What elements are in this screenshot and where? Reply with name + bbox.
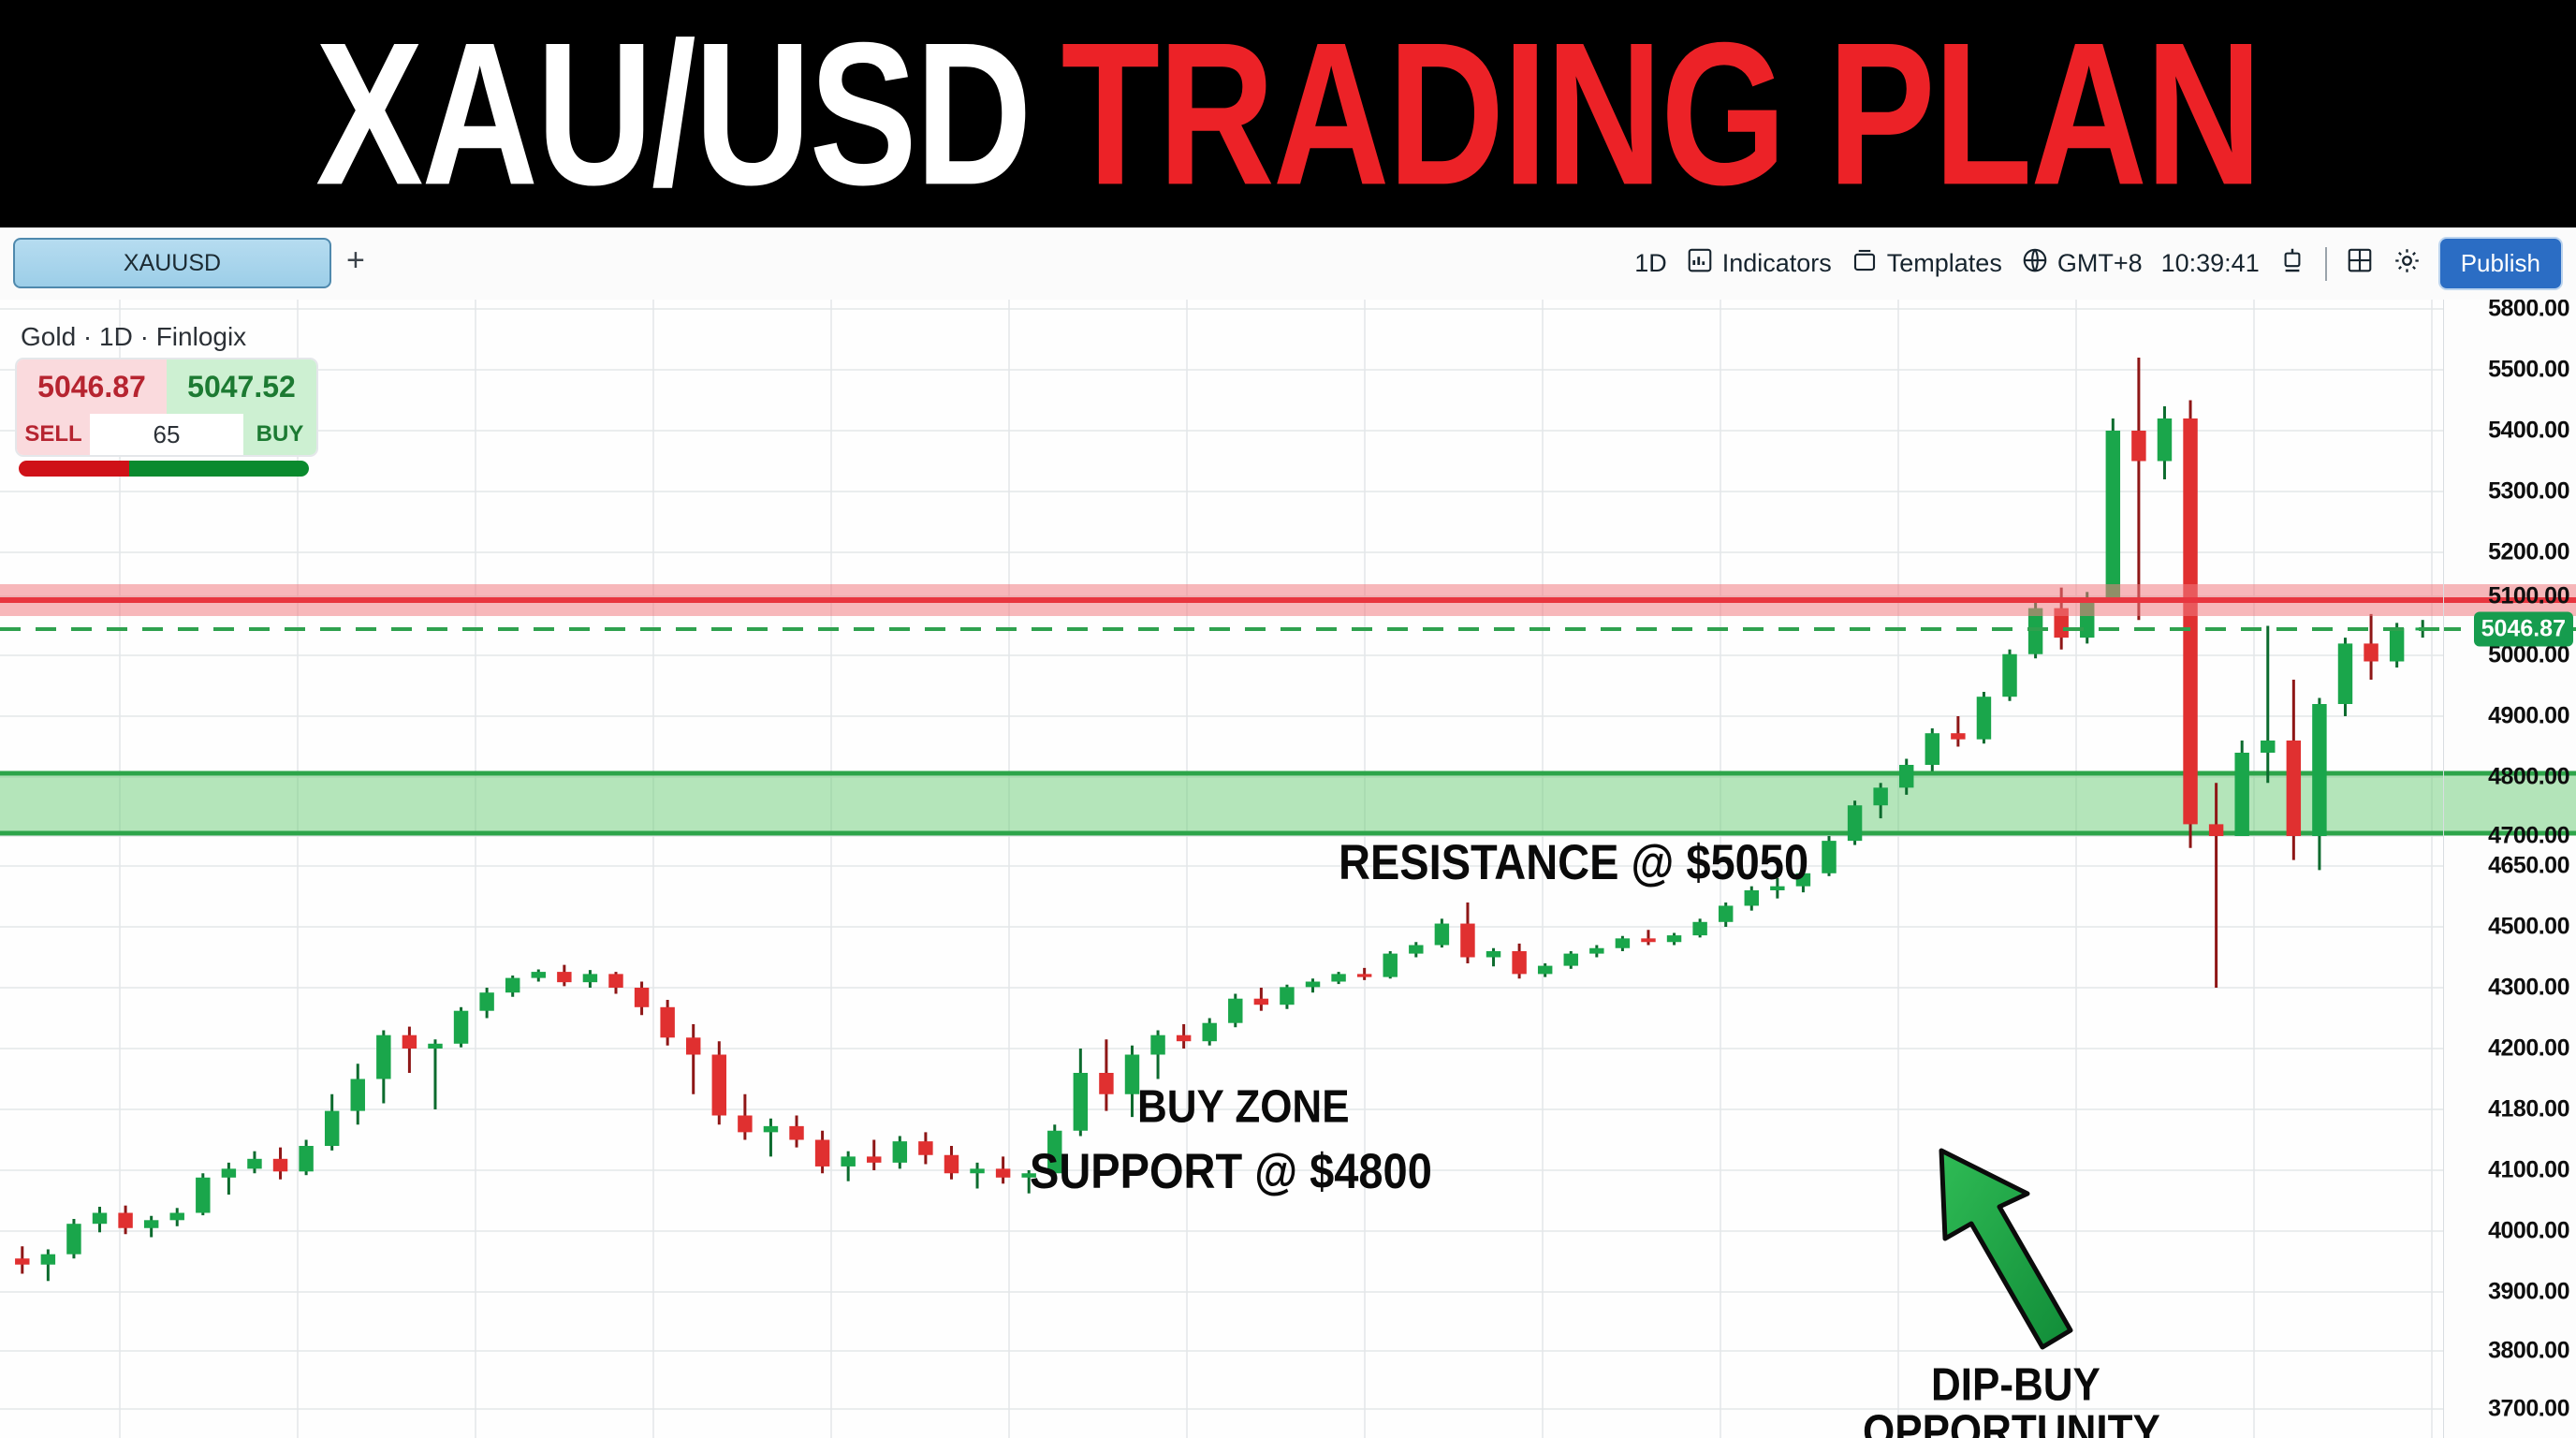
annotation-support: SUPPORT @ $4800	[1030, 1142, 1432, 1200]
publish-button[interactable]: Publish	[2440, 239, 2561, 288]
gear-icon	[2393, 246, 2422, 282]
axis-tick-label: 4100.00	[2488, 1157, 2569, 1184]
chart-toolbar: 1D Indicators Template	[1634, 227, 2561, 300]
indicators-icon	[1686, 246, 1714, 281]
clock-label: 10:39:41	[2161, 249, 2260, 278]
tab-xauusd[interactable]: XAUUSD	[13, 238, 331, 288]
toolbar-divider	[2325, 247, 2327, 281]
templates-button[interactable]: Templates	[1851, 246, 2002, 281]
sell-price[interactable]: 5046.87	[17, 359, 167, 414]
axis-tick-label: 3900.00	[2488, 1279, 2569, 1306]
axis-tick-label: 4300.00	[2488, 975, 2569, 1002]
spread-value: 65	[90, 414, 243, 455]
quote-widget[interactable]: 5046.87 5047.52 SELL 65 BUY	[15, 358, 318, 457]
axis-tick-label: 4900.00	[2488, 703, 2569, 730]
buy-price[interactable]: 5047.52	[167, 359, 316, 414]
axis-tick-label: 4500.00	[2488, 914, 2569, 941]
buy-button[interactable]: BUY	[243, 414, 316, 455]
clock-display: 10:39:41	[2161, 249, 2260, 278]
banner-title-subject: TRADING PLAN	[1061, 0, 2261, 227]
banner-title: XAU/USDTRADING PLAN	[315, 12, 2261, 215]
settings-button[interactable]	[2393, 246, 2422, 282]
price-chart[interactable]: Gold · 1D · Finlogix 5046.87 5047.52 SEL…	[0, 300, 2443, 1438]
page-banner: XAU/USDTRADING PLAN	[0, 0, 2576, 227]
symbol-info: Gold · 1D · Finlogix	[21, 322, 246, 352]
tab-label: XAUUSD	[124, 250, 221, 277]
annotation-dip-buy-line1: DIP-BUY	[1931, 1359, 2100, 1412]
indicators-button[interactable]: Indicators	[1686, 246, 1832, 281]
axis-tick-label: 3700.00	[2488, 1396, 2569, 1423]
chart-style-button[interactable]	[2278, 245, 2306, 282]
globe-icon	[2021, 246, 2049, 281]
axis-tick-label: 5200.00	[2488, 539, 2569, 566]
banner-title-pair: XAU/USD	[315, 0, 1030, 227]
axis-tick-label: 4180.00	[2488, 1096, 2569, 1123]
axis-tick-label: 4800.00	[2488, 764, 2569, 791]
timeframe-label: 1D	[1634, 249, 1667, 278]
grid-layout-icon	[2346, 246, 2374, 281]
axis-tick-label: 5400.00	[2488, 418, 2569, 445]
templates-label: Templates	[1887, 249, 2002, 278]
timeframe-selector[interactable]: 1D	[1634, 249, 1667, 278]
tab-bar: XAUUSD + 1D Indicators	[0, 227, 2576, 301]
axis-tick-label: 4000.00	[2488, 1218, 2569, 1245]
annotation-dip-buy-line2: OPPORTUNITY	[1863, 1406, 2160, 1438]
layout-button[interactable]	[2346, 246, 2374, 281]
annotation-buy-zone: BUY ZONE	[1137, 1081, 1350, 1134]
price-axis[interactable]: 5800.005500.005400.005300.005200.005100.…	[2443, 300, 2576, 1438]
quote-prices: 5046.87 5047.52	[17, 359, 316, 414]
templates-icon	[1851, 246, 1879, 281]
quote-actions: SELL 65 BUY	[17, 414, 316, 455]
candle-style-icon	[2278, 245, 2306, 282]
sentiment-sell-portion	[19, 461, 129, 477]
axis-tick-label: 5300.00	[2488, 478, 2569, 506]
timezone-selector[interactable]: GMT+8	[2021, 246, 2143, 281]
indicators-label: Indicators	[1722, 249, 1832, 278]
timezone-label: GMT+8	[2057, 249, 2143, 278]
sentiment-bar	[19, 461, 309, 477]
sentiment-buy-portion	[129, 461, 309, 477]
axis-tick-label: 5500.00	[2488, 357, 2569, 384]
dip-buy-arrow	[1919, 1137, 2134, 1362]
axis-tick-label: 4700.00	[2488, 823, 2569, 850]
current-price-badge: 5046.87	[2474, 612, 2573, 647]
add-tab-button[interactable]: +	[346, 244, 365, 276]
axis-tick-label: 5800.00	[2488, 300, 2569, 323]
axis-tick-label: 4200.00	[2488, 1035, 2569, 1063]
sell-button[interactable]: SELL	[17, 414, 90, 455]
axis-tick-label: 3800.00	[2488, 1338, 2569, 1365]
axis-tick-label: 4650.00	[2488, 853, 2569, 880]
axis-tick-label: 5100.00	[2488, 583, 2569, 610]
annotation-resistance: RESISTANCE @ $5050	[1339, 833, 1808, 891]
